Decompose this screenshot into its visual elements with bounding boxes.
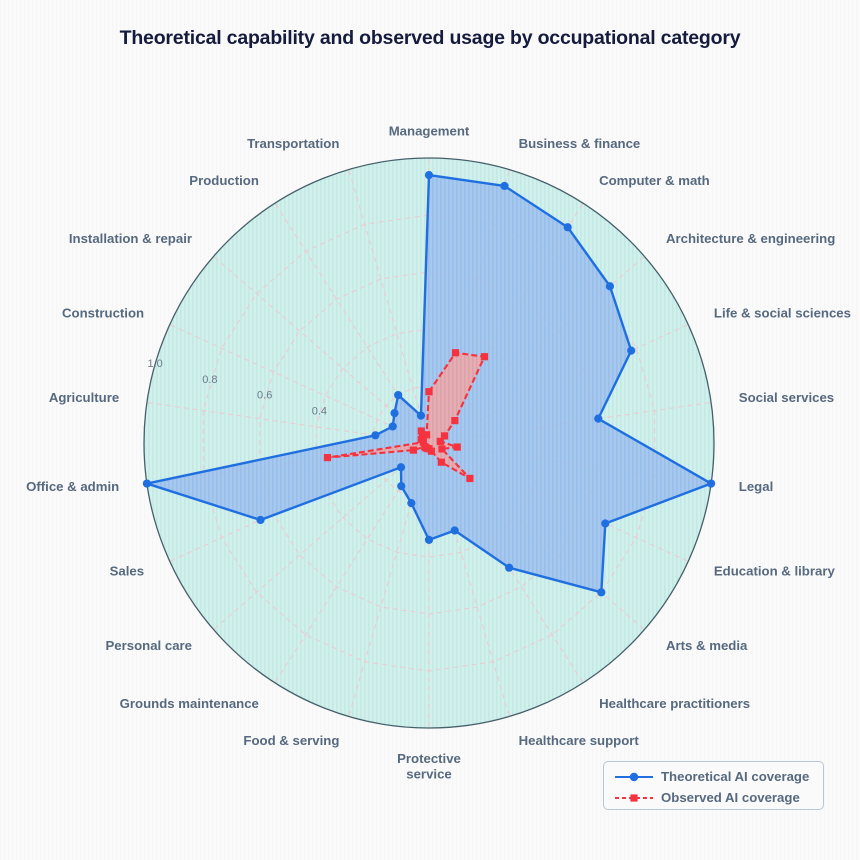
data-point[interactable] [451, 417, 458, 424]
data-point[interactable] [371, 431, 379, 439]
data-point[interactable] [425, 536, 433, 544]
category-label-life-social-sciences: Life & social sciences [714, 305, 851, 320]
radar-chart: 0.40.60.81.0 ManagementBusiness & financ… [0, 0, 860, 860]
data-point[interactable] [606, 282, 614, 290]
data-point[interactable] [437, 438, 444, 445]
data-point[interactable] [324, 454, 331, 461]
data-point[interactable] [423, 431, 430, 438]
category-label-food-serving: Food & serving [243, 733, 339, 748]
legend-label-theoretical: Theoretical AI coverage [661, 769, 809, 784]
category-label-social-services: Social services [739, 390, 834, 405]
data-point[interactable] [481, 353, 488, 360]
radial-tick-label: 0.6 [257, 390, 272, 402]
category-label-production: Production [189, 173, 259, 188]
data-point[interactable] [505, 564, 513, 572]
radar-chart-svg: 0.40.60.81.0 ManagementBusiness & financ… [0, 0, 860, 860]
data-point[interactable] [438, 445, 445, 452]
category-label-arts-media: Arts & media [666, 638, 748, 653]
category-label-architecture-engineering: Architecture & engineering [666, 231, 835, 246]
data-point[interactable] [466, 475, 473, 482]
category-label-grounds-maintenance: Grounds maintenance [120, 696, 259, 711]
data-point[interactable] [143, 479, 151, 487]
data-point[interactable] [627, 347, 635, 355]
category-label-healthcare-support: Healthcare support [519, 733, 640, 748]
category-label-sales: Sales [110, 564, 144, 579]
data-point[interactable] [452, 349, 459, 356]
data-point[interactable] [410, 447, 417, 454]
data-point[interactable] [390, 409, 398, 417]
data-point[interactable] [407, 499, 415, 507]
category-label-installation-repair: Installation & repair [69, 231, 192, 246]
legend-marker-square-icon [613, 791, 655, 805]
data-point[interactable] [389, 422, 397, 430]
category-label-computer-math: Computer & math [599, 173, 710, 188]
category-label-legal: Legal [739, 479, 773, 494]
data-point[interactable] [451, 526, 459, 534]
radial-tick-label: 0.4 [312, 405, 327, 417]
category-label-healthcare-practitioners: Healthcare practitioners [599, 696, 750, 711]
chart-legend: Theoretical AI coverage Observed AI cove… [603, 761, 824, 810]
data-point[interactable] [454, 443, 461, 450]
category-label-education-library: Education & library [714, 564, 836, 579]
data-point[interactable] [256, 516, 264, 524]
data-point[interactable] [397, 482, 405, 490]
data-point[interactable] [425, 388, 432, 395]
legend-item-observed[interactable]: Observed AI coverage [613, 788, 814, 807]
radial-tick-label: 1.0 [147, 358, 162, 370]
category-label-protective-service: Protectiveservice [397, 751, 461, 782]
data-point[interactable] [601, 519, 609, 527]
data-point[interactable] [425, 171, 433, 179]
data-point[interactable] [500, 182, 508, 190]
legend-marker-circle-icon [613, 770, 655, 784]
category-label-agriculture: Agriculture [49, 390, 119, 405]
data-point[interactable] [394, 391, 402, 399]
data-point[interactable] [397, 463, 405, 471]
category-label-business-finance: Business & finance [519, 136, 641, 151]
legend-label-observed: Observed AI coverage [661, 790, 800, 805]
category-label-office-admin: Office & admin [26, 479, 119, 494]
data-point[interactable] [594, 415, 602, 423]
data-point[interactable] [707, 479, 715, 487]
data-point[interactable] [438, 459, 445, 466]
category-label-construction: Construction [62, 305, 144, 320]
radial-tick-label: 0.8 [202, 374, 217, 386]
category-label-personal-care: Personal care [105, 638, 192, 653]
data-point[interactable] [597, 588, 605, 596]
category-label-transportation: Transportation [247, 136, 339, 151]
data-point[interactable] [417, 412, 425, 420]
category-label-management: Management [389, 123, 470, 138]
legend-item-theoretical[interactable]: Theoretical AI coverage [613, 767, 814, 786]
data-point[interactable] [564, 223, 572, 231]
